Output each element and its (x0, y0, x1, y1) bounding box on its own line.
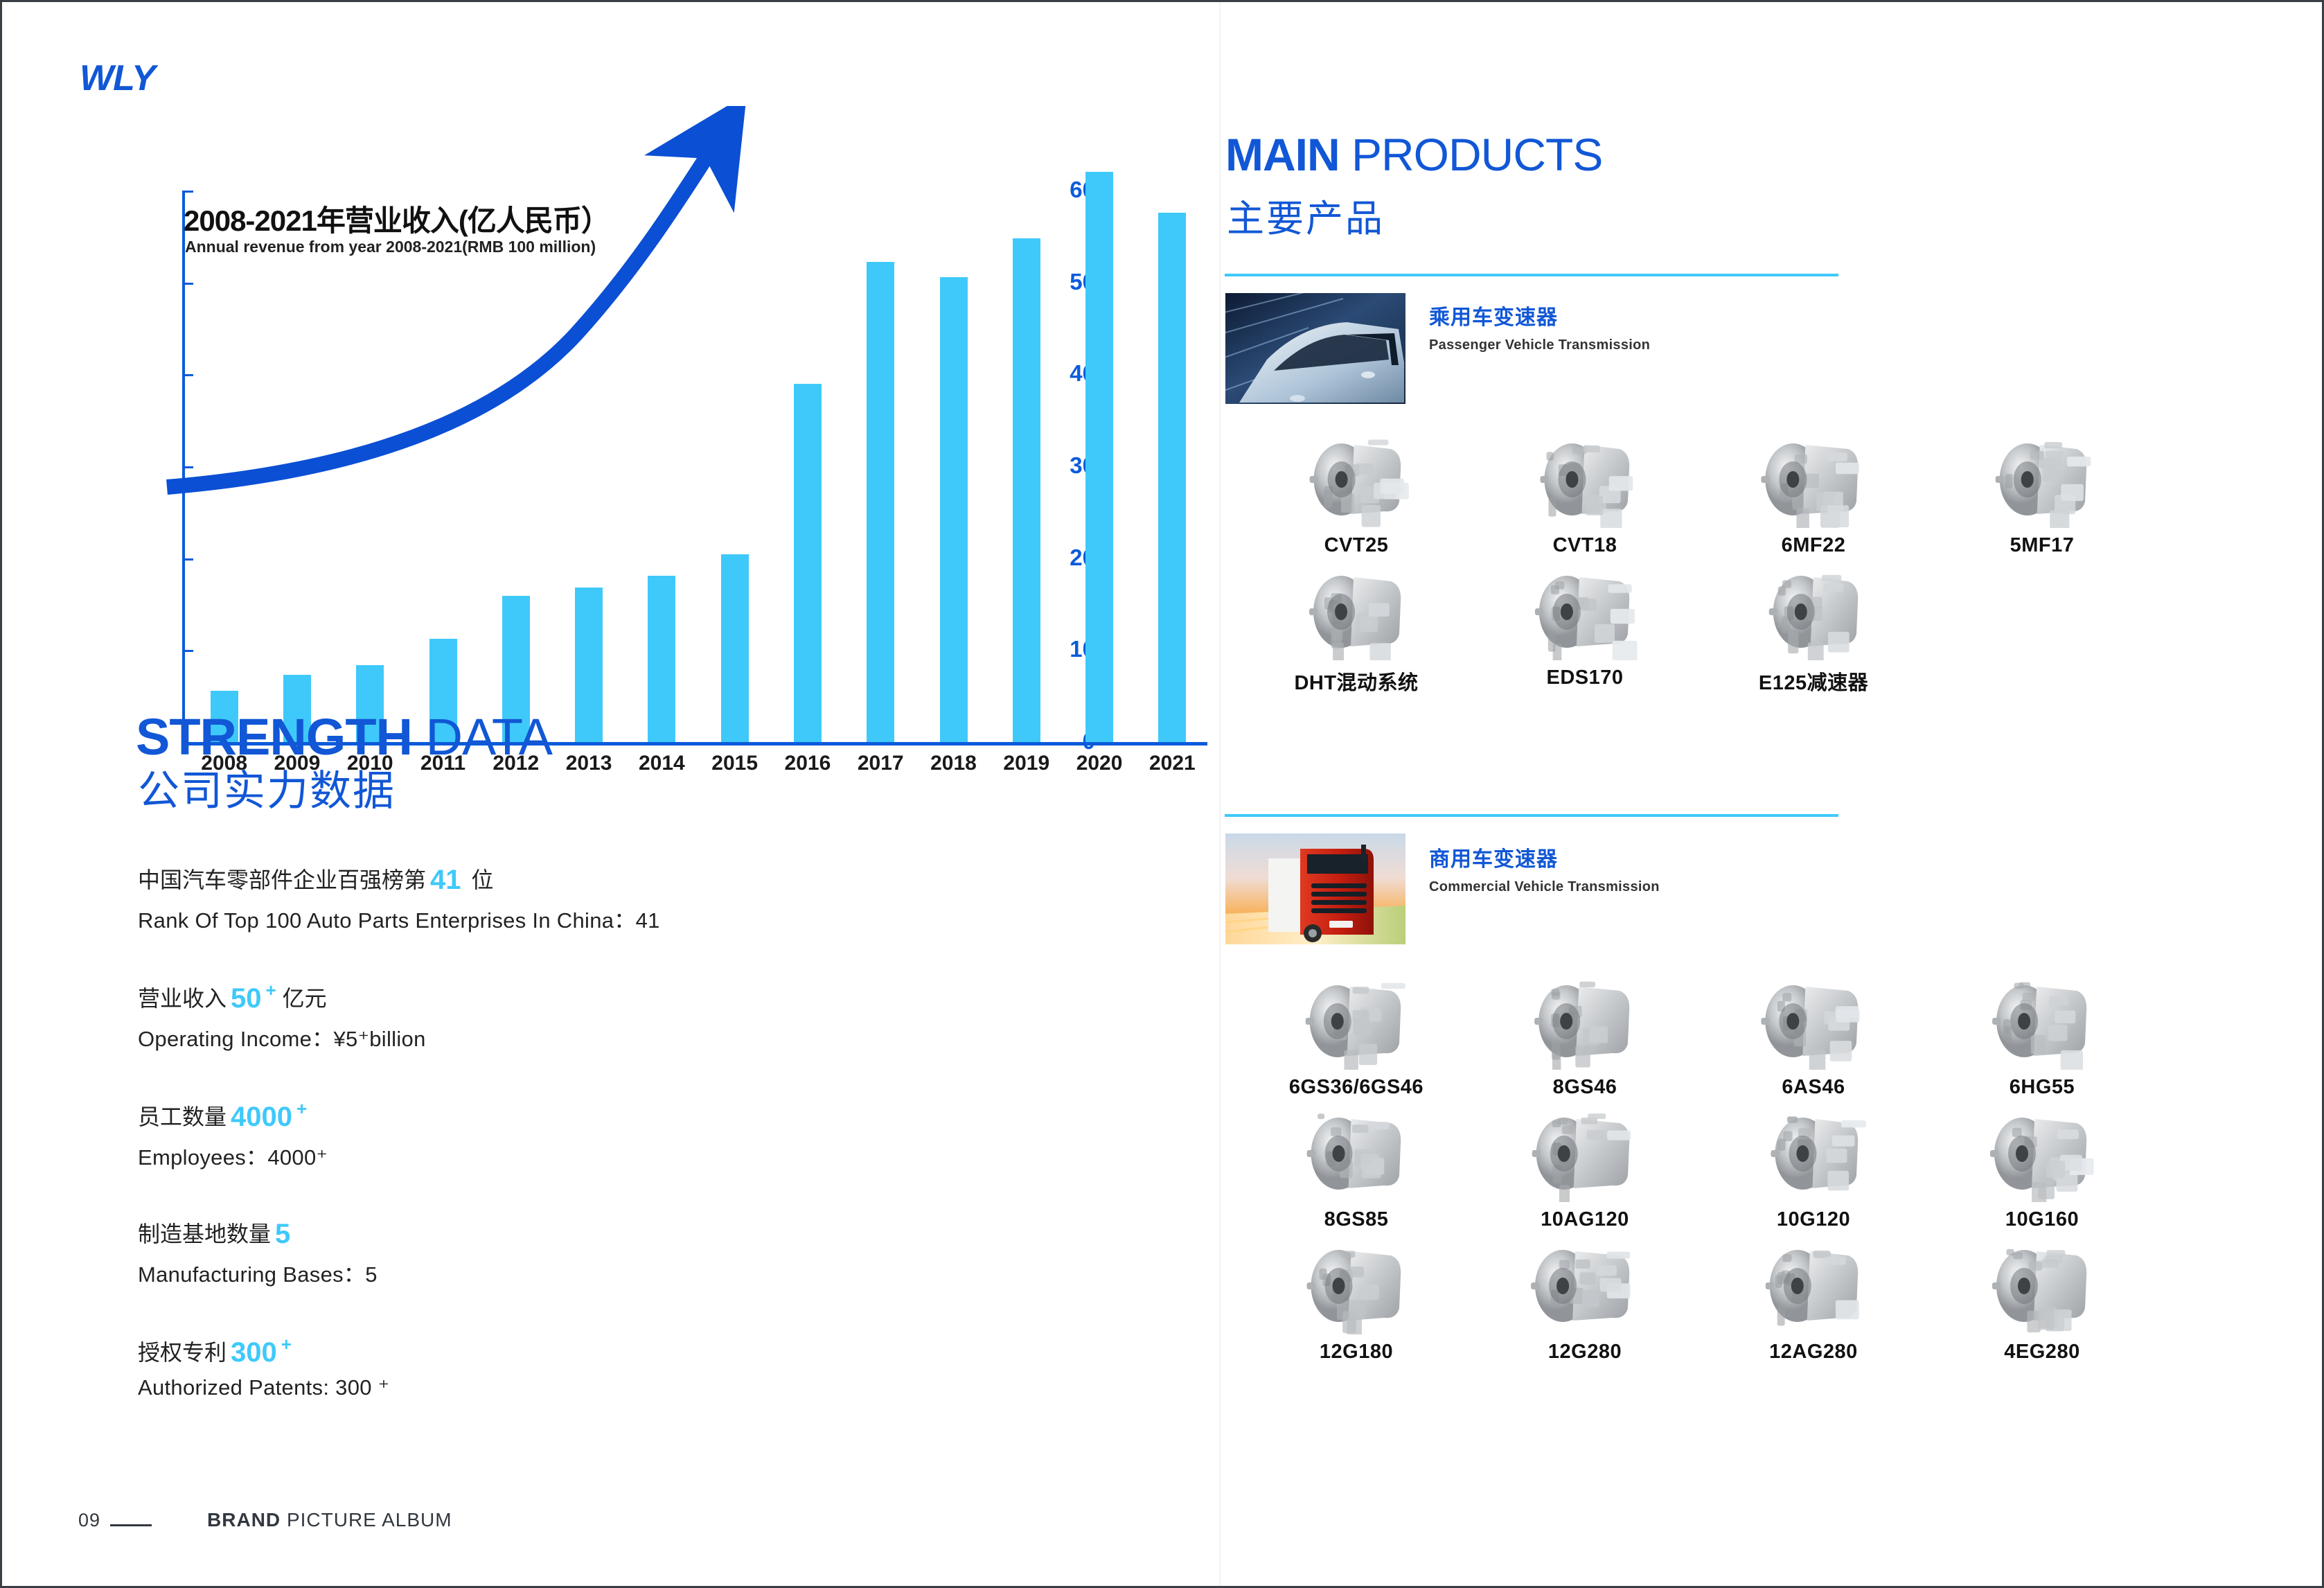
strength-stats-list: 中国汽车零部件企业百强榜第41 位Rank Of Top 100 Auto Pa… (138, 861, 761, 1445)
wly-logo: WLY (80, 58, 155, 99)
product-label: CVT25 (1242, 534, 1471, 557)
strength-stat-item: 授权专利300+Authorized Patents: 300 ⁺ (138, 1332, 761, 1400)
x-axis-label: 2018 (921, 752, 987, 775)
product-label: 8GS46 (1471, 1076, 1699, 1099)
product-label: 6MF22 (1699, 534, 1928, 557)
x-axis-label: 2013 (556, 752, 622, 775)
product-label: 10G120 (1699, 1208, 1928, 1231)
product-image (1699, 1099, 1928, 1203)
strength-stat-en: Authorized Patents: 300 ⁺ (138, 1375, 761, 1400)
passenger-section-title-cn: 乘用车变速器 (1429, 300, 1558, 330)
product-image (1242, 967, 1471, 1070)
product-card[interactable]: 6GS36/6GS46 (1242, 967, 1471, 1099)
passenger-car-banner-image (1225, 293, 1405, 404)
strength-heading-light: DATA (426, 708, 552, 766)
product-label: 6AS46 (1699, 1076, 1928, 1099)
strength-stat-cn: 制造基地数量5 (138, 1215, 761, 1253)
commercial-section-title-cn: 商用车变速器 (1429, 842, 1558, 872)
footer-page-number: 09 (78, 1510, 100, 1531)
product-card[interactable]: 10AG120 (1471, 1099, 1699, 1231)
product-label: 10AG120 (1471, 1208, 1699, 1231)
strength-stat-cn: 营业收入50+ 亿元 (138, 978, 761, 1017)
product-image (1928, 967, 2156, 1070)
products-heading-cn: 主要产品 (1227, 188, 1385, 242)
product-card[interactable]: 6MF22 (1699, 425, 1928, 557)
chart-bar (867, 262, 894, 742)
product-label: DHT混动系统 (1242, 667, 1471, 696)
chart-bar (1085, 172, 1113, 742)
x-axis-label: 2020 (1066, 752, 1133, 775)
x-axis-label: 2015 (702, 752, 768, 775)
product-card[interactable]: 10G160 (1928, 1099, 2156, 1231)
chart-title: 2008-2021年营业收入(亿人民币） (184, 197, 610, 240)
chart-bar (1158, 213, 1186, 742)
strength-stat-en: Operating Income：¥5⁺billion (138, 1021, 761, 1052)
product-image (1699, 967, 1928, 1070)
strength-stat-item: 员工数量4000+Employees：4000⁺ (138, 1097, 761, 1171)
footer-brand-rest: PICTURE ALBUM (287, 1509, 452, 1530)
x-axis-label: 2014 (628, 752, 695, 775)
products-heading-en: MAIN PRODUCTS (1225, 128, 1602, 181)
strength-stat-en: Rank Of Top 100 Auto Parts Enterprises I… (138, 903, 761, 934)
product-label: 12G280 (1471, 1341, 1699, 1364)
product-image (1471, 1099, 1699, 1203)
section-divider-commercial (1225, 814, 1838, 817)
product-card[interactable]: 5MF17 (1928, 425, 2156, 557)
product-card[interactable]: 8GS85 (1242, 1099, 1471, 1231)
product-image (1471, 1231, 1699, 1335)
strength-stat-en: Manufacturing Bases：5 (138, 1257, 761, 1288)
strength-stat-en: Employees：4000⁺ (138, 1140, 761, 1171)
product-card[interactable]: E125减速器 (1699, 557, 1928, 696)
section-divider-passenger (1225, 274, 1838, 276)
product-label: E125减速器 (1699, 667, 1928, 696)
product-card[interactable]: CVT25 (1242, 425, 1471, 557)
x-axis-label: 2021 (1139, 752, 1205, 775)
product-label: 5MF17 (1928, 534, 2156, 557)
footer-brand: BRAND PICTURE ALBUM (207, 1509, 452, 1531)
product-card[interactable]: 12AG280 (1699, 1231, 1928, 1364)
product-label: 6HG55 (1928, 1076, 2156, 1099)
chart-bar (575, 588, 603, 742)
product-label: 6GS36/6GS46 (1242, 1076, 1471, 1099)
product-image (1242, 1231, 1471, 1335)
product-card[interactable]: 10G120 (1699, 1099, 1928, 1231)
chart-bar (648, 576, 675, 742)
product-label: 8GS85 (1242, 1208, 1471, 1231)
product-card[interactable]: 12G280 (1471, 1231, 1699, 1364)
passenger-product-grid: CVT25CVT186MF225MF17DHT混动系统EDS170E125减速器 (1242, 425, 2156, 696)
x-axis-label: 2016 (774, 752, 841, 775)
chart-bar (1013, 238, 1040, 742)
strength-stat-cn: 员工数量4000+ (138, 1097, 761, 1136)
strength-stat-item: 制造基地数量5Manufacturing Bases：5 (138, 1215, 761, 1288)
product-card[interactable]: 6HG55 (1928, 967, 2156, 1099)
product-image (1699, 425, 1928, 529)
product-image (1699, 1231, 1928, 1335)
product-card[interactable]: DHT混动系统 (1242, 557, 1471, 696)
footer-brand-bold: BRAND (207, 1509, 281, 1530)
commercial-product-grid: 6GS36/6GS468GS466AS466HG558GS8510AG12010… (1242, 967, 2156, 1364)
product-card[interactable]: EDS170 (1471, 557, 1699, 696)
product-image (1928, 425, 2156, 529)
product-image (1471, 967, 1699, 1070)
page-gutter (1219, 2, 1221, 1588)
strength-stat-item: 中国汽车零部件企业百强榜第41 位Rank Of Top 100 Auto Pa… (138, 861, 761, 934)
x-axis-label: 2019 (993, 752, 1060, 775)
products-heading-light: PRODUCTS (1351, 129, 1602, 180)
product-image (1242, 557, 1471, 661)
product-image (1471, 557, 1699, 661)
product-label: CVT18 (1471, 534, 1699, 557)
product-image (1471, 425, 1699, 529)
product-image (1242, 425, 1471, 529)
strength-stat-cn: 授权专利300+ (138, 1332, 761, 1371)
product-label: 10G160 (1928, 1208, 2156, 1231)
product-card[interactable]: 4EG280 (1928, 1231, 2156, 1364)
truck-banner-image (1225, 833, 1405, 944)
product-image (1242, 1099, 1471, 1203)
product-card[interactable]: 8GS46 (1471, 967, 1699, 1099)
product-card[interactable]: 12G180 (1242, 1231, 1471, 1364)
strength-heading-cn: 公司实力数据 (138, 757, 396, 818)
x-axis-label: 2017 (847, 752, 914, 775)
strength-stat-item: 营业收入50+ 亿元Operating Income：¥5⁺billion (138, 978, 761, 1052)
product-card[interactable]: 6AS46 (1699, 967, 1928, 1099)
product-image (1928, 1231, 2156, 1335)
product-label: 12G180 (1242, 1341, 1471, 1364)
product-label: 4EG280 (1928, 1341, 2156, 1364)
chart-plot-area (188, 191, 1209, 742)
passenger-section-title-en: Passenger Vehicle Transmission (1429, 337, 1650, 353)
chart-bar (940, 277, 968, 742)
product-card[interactable]: CVT18 (1471, 425, 1699, 557)
product-label: EDS170 (1471, 667, 1699, 689)
chart-bar (794, 384, 822, 742)
chart-subtitle: Annual revenue from year 2008-2021(RMB 1… (185, 238, 596, 256)
product-image (1928, 1099, 2156, 1203)
product-label: 12AG280 (1699, 1341, 1928, 1364)
chart-bar (721, 554, 749, 742)
product-image (1699, 557, 1928, 661)
footer-rule (110, 1524, 152, 1526)
page-footer: 09 BRAND PICTURE ALBUM (78, 1509, 452, 1531)
commercial-section-title-en: Commercial Vehicle Transmission (1429, 879, 1660, 895)
strength-stat-cn: 中国汽车零部件企业百强榜第41 位 (138, 861, 761, 899)
brochure-page: WLY 0102030405060 2008200920102011201220… (0, 0, 2324, 1588)
products-heading-bold: MAIN (1225, 129, 1340, 180)
